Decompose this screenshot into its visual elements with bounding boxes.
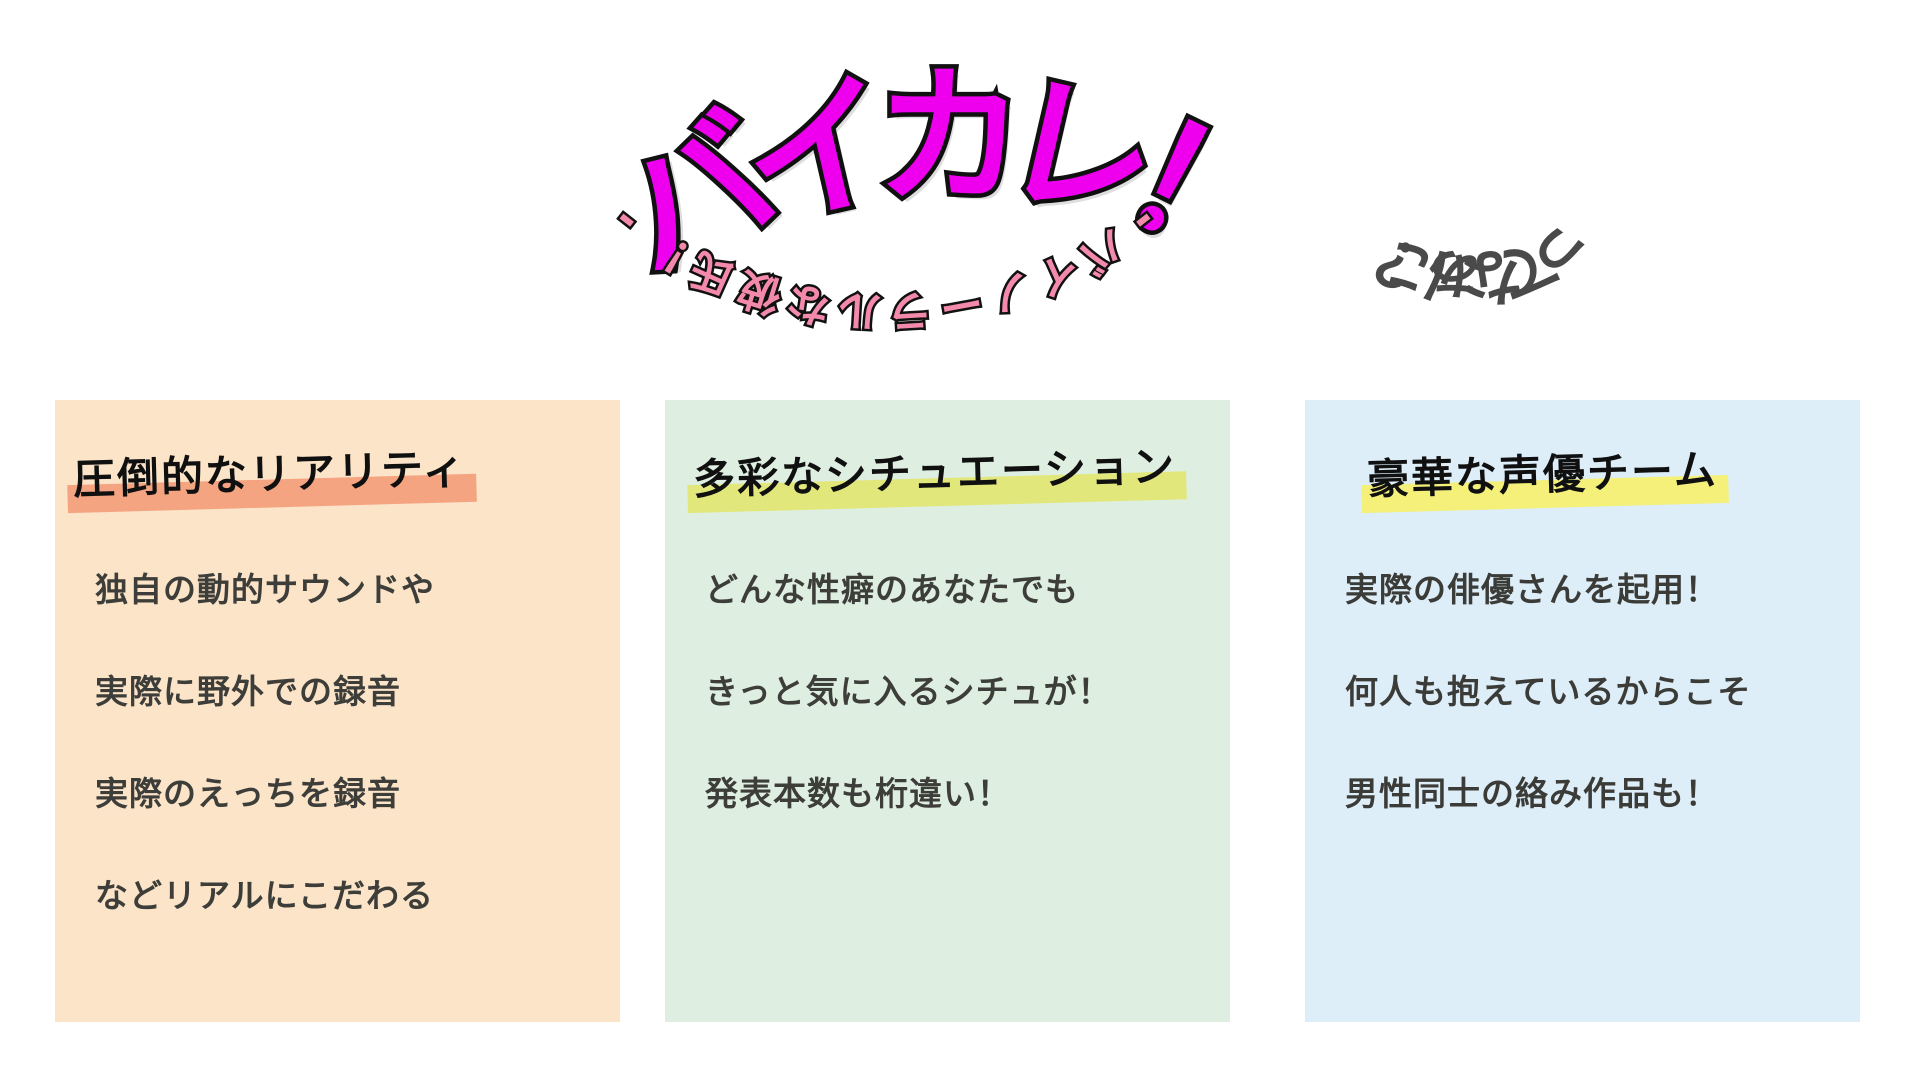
card-header-label: 圧倒的なリアリティ bbox=[72, 444, 467, 504]
card-header-reality: 圧倒的なリアリティ bbox=[72, 435, 467, 507]
subtitle-tagline: -バイノーラルな彼氏！- bbox=[565, 250, 1205, 330]
card-header-label: 豪華な声優チーム bbox=[1366, 445, 1718, 504]
card-header-situations: 多彩なシチュエーション bbox=[692, 433, 1177, 507]
card-line: 男性同士の絡み作品も！ bbox=[1345, 767, 1820, 815]
subtitle-char: ー bbox=[936, 278, 986, 328]
feature-cards: 圧倒的なリアリティ 独自の動的サウンドや 実際に野外での録音 実際のえっちを録音… bbox=[0, 400, 1920, 1040]
card-line: 実際のえっちを録音 bbox=[95, 767, 580, 815]
card-line: などリアルにこだわる bbox=[95, 869, 580, 917]
card-header-voice-cast: 豪華な声優チーム bbox=[1366, 436, 1718, 507]
card-line: 発表本数も桁違い！ bbox=[705, 767, 1190, 815]
card-line: きっと気に入るシチュが！ bbox=[705, 665, 1190, 713]
tail-question-text: ってなぁに？ bbox=[1240, 212, 1700, 322]
card-body-voice-cast: 実際の俳優さんを起用！ 何人も抱えているからこそ 男性同士の絡み作品も！ bbox=[1305, 563, 1860, 815]
subtitle-char: ル bbox=[837, 286, 883, 332]
subtitle-char: な bbox=[784, 278, 834, 328]
feature-card-situations: 多彩なシチュエーション どんな性癖のあなたでも きっと気に入るシチュが！ 発表本… bbox=[665, 400, 1230, 1022]
subtitle-char: 氏 bbox=[685, 245, 742, 302]
subtitle-char: ノ bbox=[983, 264, 1037, 318]
card-line: どんな性癖のあなたでも bbox=[705, 563, 1190, 611]
card-header-label: 多彩なシチュエーション bbox=[692, 442, 1176, 504]
card-body-situations: どんな性癖のあなたでも きっと気に入るシチュが！ 発表本数も桁違い！ bbox=[665, 563, 1230, 815]
feature-card-reality: 圧倒的なリアリティ 独自の動的サウンドや 実際に野外での録音 実際のえっちを録音… bbox=[55, 400, 620, 1022]
card-body-reality: 独自の動的サウンドや 実際に野外での録音 実際のえっちを録音 などリアルにこだわ… bbox=[55, 563, 620, 917]
subtitle-char: イ bbox=[1029, 245, 1086, 302]
subtitle-char: 彼 bbox=[733, 264, 787, 318]
card-line: 独自の動的サウンドや bbox=[95, 563, 580, 611]
card-line: 何人も抱えているからこそ bbox=[1345, 665, 1820, 713]
hero-banner: バイカレ！ -バイノーラルな彼氏！- ってなぁに？ bbox=[0, 0, 1920, 360]
card-line: 実際に野外での録音 bbox=[95, 665, 580, 713]
feature-card-voice-cast: 豪華な声優チーム 実際の俳優さんを起用！ 何人も抱えているからこそ 男性同士の絡… bbox=[1305, 400, 1860, 1022]
subtitle-char: ラ bbox=[888, 286, 934, 332]
card-line: 実際の俳優さんを起用！ bbox=[1345, 563, 1820, 611]
